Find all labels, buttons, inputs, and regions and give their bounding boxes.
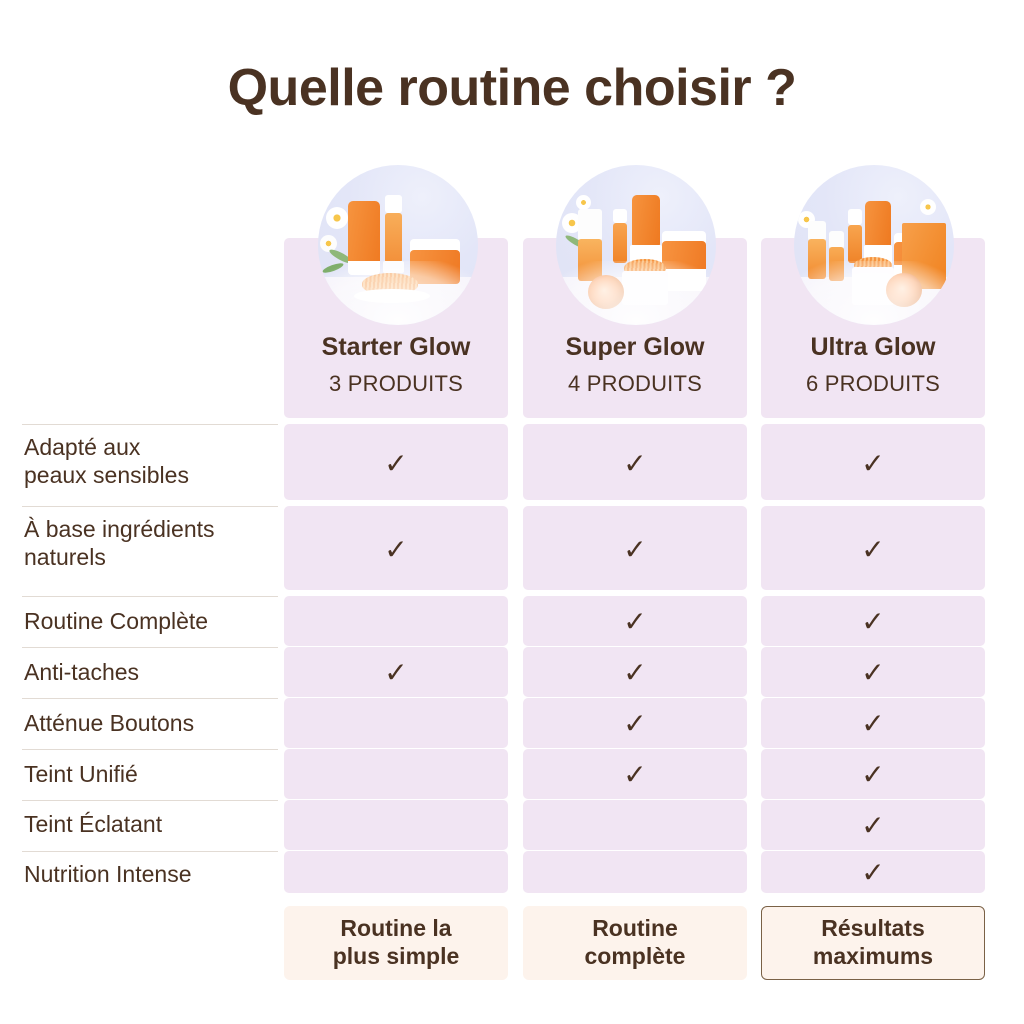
super-glow-products-photo — [556, 165, 716, 325]
row-divider — [22, 506, 278, 507]
row-label-line: À base ingrédients — [24, 515, 276, 543]
ultra-glow-products-photo — [794, 165, 954, 325]
footer-badge-ultra-glow[interactable]: Résultats maximums — [761, 906, 985, 980]
cell-starter-glow-nutrition-intense — [284, 851, 508, 893]
check-icon: ✓ — [284, 656, 508, 689]
row-label-routine-complete: Routine Complète — [24, 607, 276, 635]
product-tube — [348, 201, 380, 267]
check-icon: ✓ — [523, 447, 747, 480]
row-label-a-base-ingredients-naturels: À base ingrédients naturels — [24, 515, 276, 571]
product-dropper-bottle — [808, 221, 826, 241]
product-serum-body — [848, 225, 862, 263]
product-pump-bottle — [578, 209, 602, 241]
row-label-line: Adapté aux — [24, 433, 276, 461]
row-divider — [22, 698, 278, 699]
footer-badge-line: plus simple — [333, 943, 460, 969]
column-title-starter-glow: Starter Glow — [284, 333, 508, 362]
footer-badge-line: complète — [585, 943, 686, 969]
row-divider — [22, 851, 278, 852]
product-serum-body — [613, 223, 627, 263]
row-divider — [22, 749, 278, 750]
row-label-nutrition-intense: Nutrition Intense — [24, 860, 276, 888]
footer-badge-starter-glow[interactable]: Routine la plus simple — [284, 906, 508, 980]
check-icon: ✓ — [761, 447, 985, 480]
footer-badge-line: Résultats — [821, 915, 925, 941]
daisy-flower-icon — [920, 199, 936, 215]
cell-super-glow-nutrition-intense — [523, 851, 747, 893]
cell-starter-glow-routine-complete — [284, 596, 508, 646]
comparison-table: Starter Glow 3 PRODUITS Super Glow 4 PRO… — [0, 0, 1024, 1024]
cell-super-glow-teint-eclatant — [523, 800, 747, 850]
row-label-anti-taches: Anti-taches — [24, 658, 276, 686]
footer-badge-text: Résultats maximums — [813, 915, 933, 970]
photo-haze — [794, 261, 954, 325]
footer-badge-line: Routine la — [340, 915, 451, 941]
column-count-super-glow: 4 PRODUITS — [523, 371, 747, 397]
product-tube — [865, 201, 891, 247]
row-divider — [22, 647, 278, 648]
photo-haze — [556, 261, 716, 325]
footer-badge-line: Routine — [592, 915, 678, 941]
cell-starter-glow-teint-unifie — [284, 749, 508, 799]
product-serum-bottle — [848, 209, 862, 225]
check-icon: ✓ — [523, 656, 747, 689]
row-label-teint-unifie: Teint Unifié — [24, 760, 276, 788]
check-icon: ✓ — [523, 758, 747, 791]
product-serum-body — [385, 213, 402, 263]
cell-starter-glow-teint-eclatant — [284, 800, 508, 850]
daisy-flower-icon — [326, 207, 348, 229]
check-icon: ✓ — [284, 447, 508, 480]
cell-starter-glow-attenue-boutons — [284, 698, 508, 748]
row-label-adapte-aux-peaux-sensibles: Adapté aux peaux sensibles — [24, 433, 276, 489]
check-icon: ✓ — [761, 533, 985, 566]
footer-badge-line: maximums — [813, 943, 933, 969]
check-icon: ✓ — [523, 707, 747, 740]
row-label-line: peaux sensibles — [24, 461, 276, 489]
footer-badge-super-glow[interactable]: Routine complète — [523, 906, 747, 980]
row-label-attenue-boutons: Atténue Boutons — [24, 709, 276, 737]
check-icon: ✓ — [761, 809, 985, 842]
check-icon: ✓ — [523, 533, 747, 566]
row-divider — [22, 800, 278, 801]
column-count-ultra-glow: 6 PRODUITS — [761, 371, 985, 397]
product-serum-bottle — [385, 195, 402, 213]
product-tube — [632, 195, 660, 247]
check-icon: ✓ — [761, 605, 985, 638]
check-icon: ✓ — [284, 533, 508, 566]
check-icon: ✓ — [761, 707, 985, 740]
check-icon: ✓ — [523, 605, 747, 638]
column-title-ultra-glow: Ultra Glow — [761, 333, 985, 362]
check-icon: ✓ — [761, 758, 985, 791]
column-title-super-glow: Super Glow — [523, 333, 747, 362]
footer-badge-text: Routine la plus simple — [333, 915, 460, 970]
column-count-starter-glow: 3 PRODUITS — [284, 371, 508, 397]
row-label-line: naturels — [24, 543, 276, 571]
photo-haze — [318, 261, 478, 325]
check-icon: ✓ — [761, 856, 985, 889]
daisy-flower-icon — [576, 195, 591, 210]
row-divider — [22, 424, 278, 425]
check-icon: ✓ — [761, 656, 985, 689]
row-divider — [22, 596, 278, 597]
starter-glow-products-photo — [318, 165, 478, 325]
footer-badge-text: Routine complète — [585, 915, 686, 970]
row-label-teint-eclatant: Teint Éclatant — [24, 810, 276, 838]
product-serum-bottle — [613, 209, 627, 223]
